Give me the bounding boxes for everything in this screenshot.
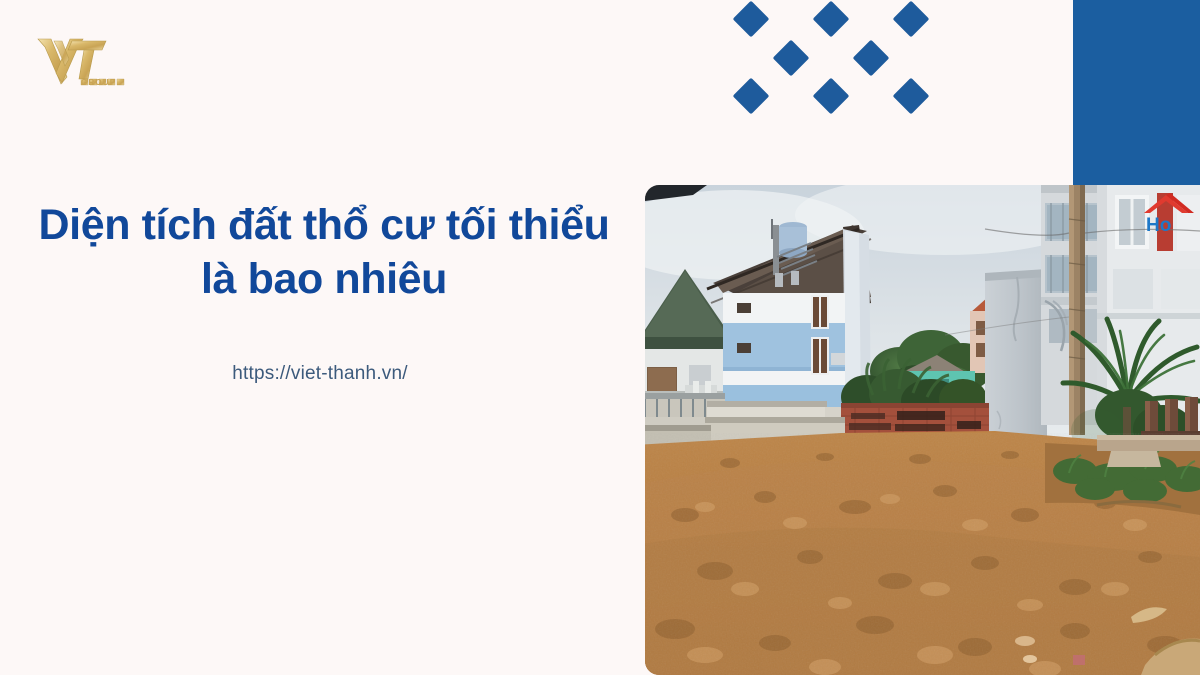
website-url[interactable]: https://viet-thanh.vn/: [0, 363, 640, 385]
diamond-shape: [893, 1, 930, 38]
watermark-text: Ho: [1146, 215, 1171, 235]
house-roof-watermark: Ho: [1140, 191, 1198, 235]
vt-group-logo[interactable]: GROUP: [34, 33, 130, 91]
diamond-shape: [813, 78, 850, 115]
logo-subtext: GROUP: [81, 78, 116, 87]
diamond-shape: [733, 1, 770, 38]
diamond-shape: [813, 1, 850, 38]
diamond-shape: [733, 78, 770, 115]
diamond-shape: [853, 40, 890, 77]
diamond-shape: [773, 40, 810, 77]
diamond-shape: [893, 78, 930, 115]
slide-canvas: GROUP Diện tích đất thổ cư tối thiểu là …: [0, 0, 1200, 675]
blue-accent-bar: [1073, 0, 1200, 186]
diamond-pattern: [720, 0, 925, 118]
vacant-land-photo: Ho: [645, 185, 1200, 675]
page-title: Diện tích đất thổ cư tối thiểu là bao nh…: [0, 198, 648, 306]
